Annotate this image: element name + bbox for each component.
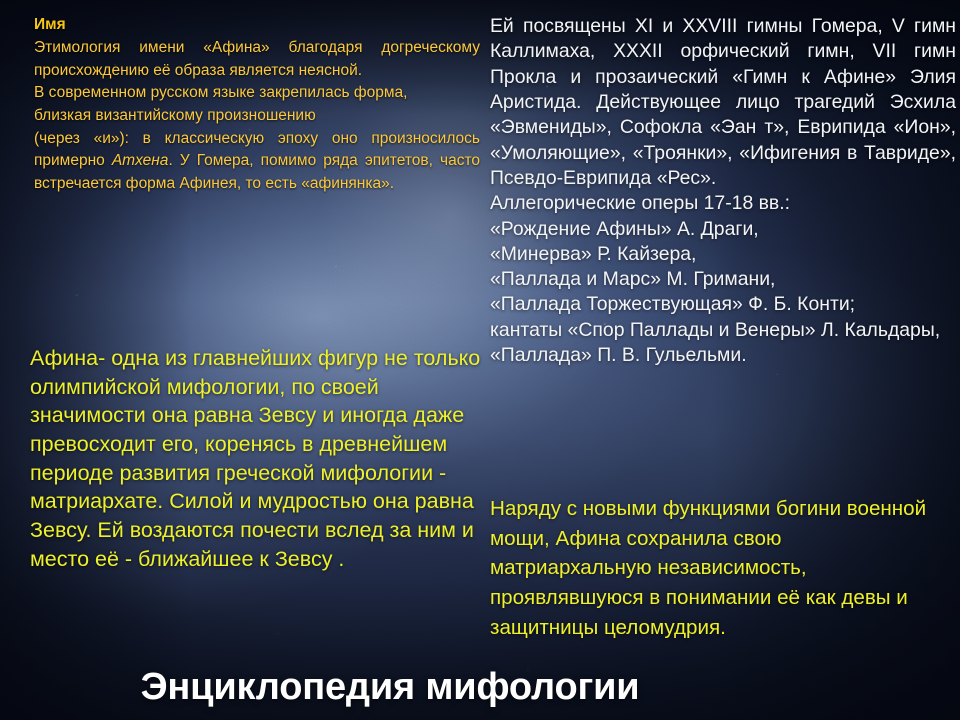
- etymology-transliteration: Атхена: [112, 152, 169, 169]
- etymology-paragraph-3: близкая византийскому произношению: [34, 105, 480, 128]
- etymology-paragraph-1: Этимология имени «Афина» благодаря догре…: [34, 37, 480, 82]
- hymns-paragraph: Ей посвящены XI и XXVIII гимны Гомера, V…: [490, 14, 956, 191]
- etymology-paragraph-2: В современном русском языке закрепилась …: [34, 82, 480, 105]
- etymology-heading: Имя: [34, 14, 480, 36]
- operas-intro: Аллегорические оперы 17-18 вв.:: [490, 191, 956, 216]
- significance-paragraph: Афина- одна из главнейших фигур не тольк…: [30, 344, 482, 574]
- cantatas-last-item: «Паллада» П. В. Гульельми.: [490, 343, 956, 368]
- opera-item-2: «Минерва» Р. Кайзера,: [490, 242, 956, 267]
- hymns-text-block: Ей посвящены XI и XXVIII гимны Гомера, V…: [490, 14, 956, 368]
- presentation-slide: Имя Этимология имени «Афина» благодаря д…: [0, 0, 960, 720]
- opera-item-4: «Паллада Торжествующая» Ф. Б. Конти;: [490, 292, 956, 317]
- slide-title: Энциклопедия мифологии: [0, 666, 960, 709]
- opera-item-3: «Паллада и Марс» М. Гримани,: [490, 267, 956, 292]
- etymology-text-block: Имя Этимология имени «Афина» благодаря д…: [34, 14, 480, 195]
- matriarchy-text-block: Наряду с новыми функциями богини военной…: [490, 494, 940, 642]
- cantatas-item: кантаты «Спор Паллады и Венеры» Л. Кальд…: [490, 318, 956, 343]
- etymology-paragraph-4: (через «и»): в классическую эпоху оно пр…: [34, 128, 480, 196]
- significance-text-block: Афина- одна из главнейших фигур не тольк…: [30, 344, 482, 574]
- opera-item-1: «Рождение Афины» А. Драги,: [490, 217, 956, 242]
- matriarchy-paragraph: Наряду с новыми функциями богини военной…: [490, 494, 940, 642]
